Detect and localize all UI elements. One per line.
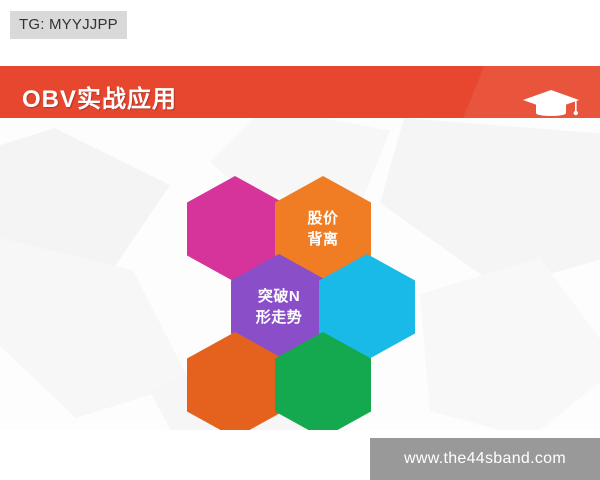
- hexagon-label: 股价 背离: [307, 208, 338, 250]
- graduation-cap-icon: [518, 86, 584, 118]
- page-title: OBV实战应用: [22, 79, 177, 114]
- slide-header-bar: OBV实战应用 Wind大学: [0, 66, 600, 118]
- watermark-text: www.the44sband.com: [404, 450, 566, 468]
- hexagon-label-line2: 形走势: [256, 309, 303, 326]
- bg-polygon: [420, 258, 600, 430]
- watermark-bar: www.the44sband.com: [370, 438, 600, 480]
- hexagon-cluster: 股价 背离 突破N 形走势: [165, 176, 435, 430]
- hexagon-label: 突破N 形走势: [256, 286, 303, 328]
- wind-university-logo: Wind大学: [518, 86, 584, 118]
- hexagon-label-line1: 突破N: [258, 288, 300, 305]
- hexagon-label-line2: 背离: [307, 231, 338, 248]
- slide: OBV实战应用 Wind大学 股价 背离: [0, 50, 600, 430]
- slide-body: 股价 背离 突破N 形走势: [0, 118, 600, 430]
- tg-tag: TG: MYYJJPP: [10, 11, 127, 39]
- hexagon-label-line1: 股价: [307, 210, 338, 227]
